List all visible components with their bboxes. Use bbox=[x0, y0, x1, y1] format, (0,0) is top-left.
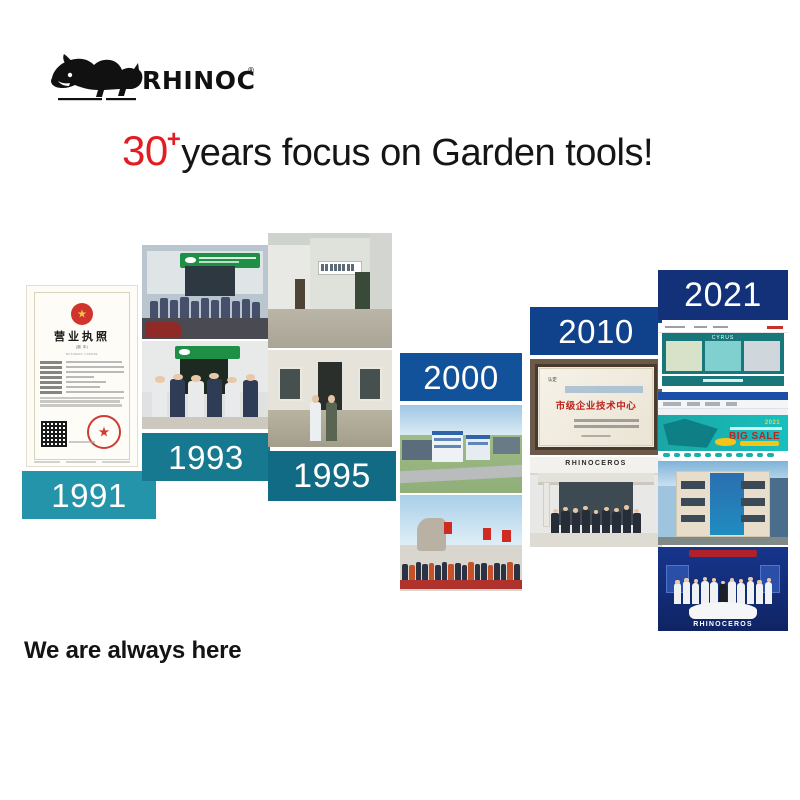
year-label-2010: 2010 bbox=[530, 307, 662, 355]
staff-row bbox=[152, 376, 258, 416]
national-emblem-icon bbox=[71, 303, 93, 325]
company-history-slide: RHINOCEROS ® 30+years focus on Garden to… bbox=[0, 0, 800, 800]
year-label-1995: 1995 bbox=[268, 451, 396, 501]
executive-group bbox=[551, 506, 641, 533]
rhinoceros-logo-icon: RHINOCEROS ® bbox=[42, 48, 257, 104]
team-row bbox=[674, 571, 773, 605]
store-name: CYRUS bbox=[662, 335, 784, 341]
license-inner-border: 营业执照 (副 本) BUSINESS LICENSE bbox=[34, 292, 130, 460]
milestone-1993: 1993 bbox=[142, 245, 268, 481]
business-license-photo: 营业执照 (副 本) BUSINESS LICENSE bbox=[26, 285, 138, 467]
people-group bbox=[150, 294, 261, 318]
factory-storefront-photo bbox=[142, 245, 268, 339]
milestone-1991: 营业执照 (副 本) BUSINESS LICENSE bbox=[26, 285, 138, 519]
building-brand-label: RHINOCEROS bbox=[530, 460, 662, 467]
ecommerce-store-banner: CYRUS bbox=[658, 323, 788, 389]
exhibition-booth-team-photo: RHINOCEROS bbox=[658, 547, 788, 631]
staff-group-photo bbox=[142, 341, 268, 429]
year-label-2021: 2021 bbox=[658, 270, 788, 320]
milestone-1995: 1995 bbox=[268, 233, 392, 501]
plaque-title: 市级企业技术中心 bbox=[544, 398, 647, 412]
license-fields bbox=[40, 361, 124, 394]
plaque-face: 认定 市级企业技术中心 bbox=[539, 368, 653, 446]
sale-hero: 2021 BIG SALE bbox=[658, 415, 788, 451]
license-subtitle: (副 本) bbox=[40, 345, 124, 350]
headline-number: 30 bbox=[122, 127, 168, 174]
green-shop-sign bbox=[175, 346, 241, 358]
two-workers-photo bbox=[268, 350, 392, 447]
booth-brand-label: RHINOCEROS bbox=[658, 621, 788, 628]
headquarters-entrance-group-photo: RHINOCEROS bbox=[530, 457, 662, 547]
old-factory-yard-photo bbox=[268, 233, 392, 348]
license-title: 营业执照 bbox=[40, 328, 124, 344]
ceremony-crowd bbox=[402, 557, 519, 582]
license-footer bbox=[34, 461, 130, 463]
rhino-statue bbox=[417, 518, 446, 551]
qr-code-icon bbox=[41, 421, 67, 447]
svg-text:®: ® bbox=[247, 66, 255, 75]
headline-plus: + bbox=[167, 126, 181, 153]
big-sale-banner: 2021 BIG SALE bbox=[658, 392, 788, 458]
site-topbar bbox=[658, 323, 788, 333]
license-paragraph bbox=[40, 397, 124, 407]
person bbox=[310, 402, 321, 441]
aerial-factory-photo bbox=[400, 405, 522, 493]
sale-year: 2021 bbox=[765, 420, 780, 426]
explore-now-button[interactable] bbox=[740, 441, 779, 447]
booth-desk bbox=[689, 602, 757, 619]
milestone-2021: 2021 CYRUS bbox=[658, 270, 788, 631]
garden-tools-graphic bbox=[663, 419, 718, 448]
headline-rest: years focus on Garden tools! bbox=[181, 132, 653, 174]
booth-header-banner bbox=[689, 550, 757, 558]
timeline: 营业执照 (副 本) BUSINESS LICENSE bbox=[0, 225, 800, 625]
store-hero: CYRUS bbox=[662, 333, 784, 374]
wall-mural bbox=[710, 473, 744, 535]
price-badge bbox=[715, 438, 736, 445]
year-label-1991: 1991 bbox=[22, 471, 156, 519]
tagline: We are always here bbox=[24, 637, 241, 665]
plaque-tag: 认定 bbox=[548, 377, 557, 383]
mural-building-photo bbox=[658, 461, 788, 545]
opening-ceremony-photo bbox=[400, 495, 522, 591]
person bbox=[326, 402, 337, 441]
year-label-1993: 1993 bbox=[142, 433, 270, 481]
milestone-2010: 2010 认定 市级企业技术中心 RHINOCEROS bbox=[530, 307, 662, 547]
technology-center-award-plaque: 认定 市级企业技术中心 bbox=[530, 359, 662, 455]
milestone-2000: 2000 bbox=[400, 353, 522, 591]
product-strip bbox=[658, 451, 788, 458]
license-signature bbox=[69, 441, 95, 443]
svg-text:RHINOCEROS: RHINOCEROS bbox=[142, 66, 257, 95]
page-title: 30+years focus on Garden tools! bbox=[122, 127, 653, 175]
year-label-2000: 2000 bbox=[400, 353, 522, 401]
license-latin: BUSINESS LICENSE bbox=[40, 352, 124, 356]
red-official-seal-icon bbox=[87, 415, 121, 449]
